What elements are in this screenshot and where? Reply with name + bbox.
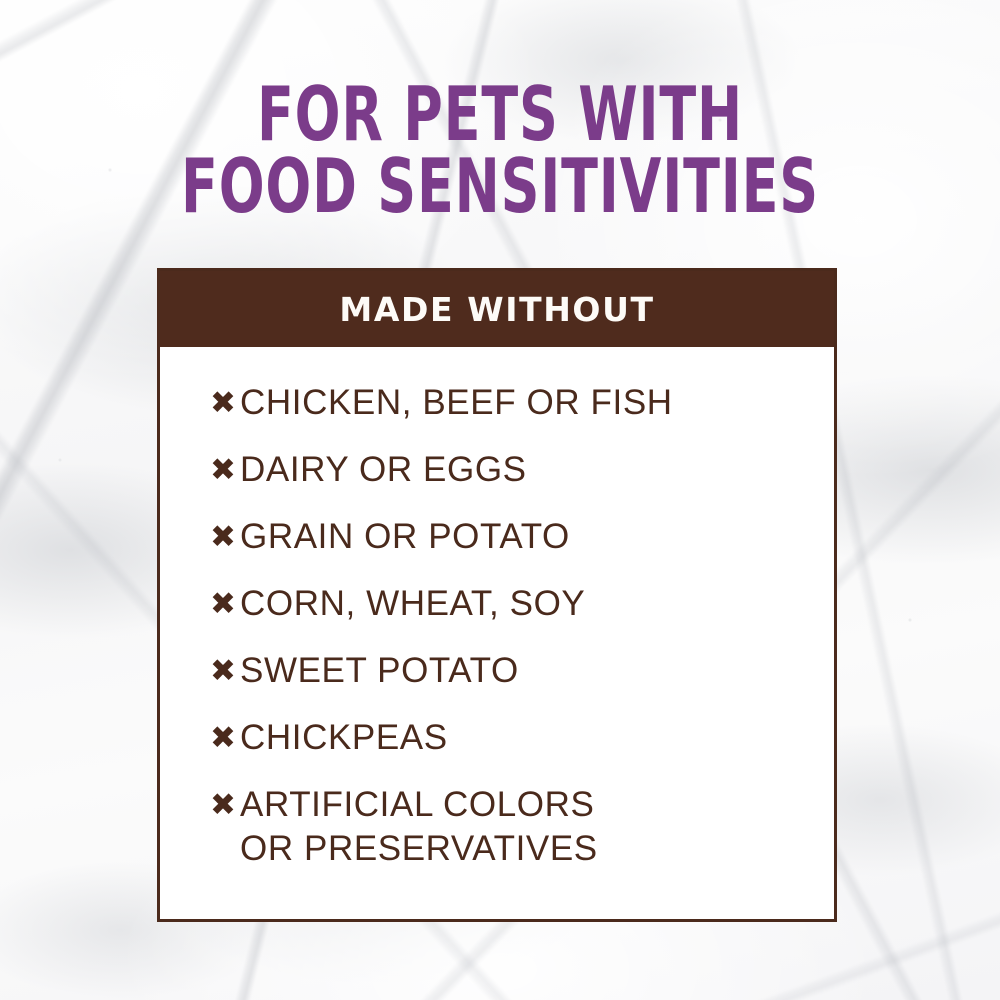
exclusion-list: ✖ CHICKEN, BEEF OR FISH ✖ DAIRY OR EGGS … (160, 381, 834, 871)
list-item: ✖ CHICKPEAS (210, 716, 812, 760)
page-title-line-1: FOR PETS WITH (100, 78, 900, 150)
card-body: ✖ CHICKEN, BEEF OR FISH ✖ DAIRY OR EGGS … (160, 347, 834, 919)
page-title-line-2: FOOD SENSITIVITIES (100, 150, 900, 222)
list-item-label: DAIRY OR EGGS (240, 448, 527, 492)
list-item: ✖ GRAIN OR POTATO (210, 515, 812, 559)
x-mark-icon: ✖ (210, 783, 240, 827)
list-item-label: SWEET POTATO (240, 649, 519, 693)
x-mark-icon: ✖ (210, 448, 240, 492)
x-mark-icon: ✖ (210, 649, 240, 693)
list-item-label: CHICKEN, BEEF OR FISH (240, 381, 673, 425)
list-item: ✖ CHICKEN, BEEF OR FISH (210, 381, 812, 425)
card-header-band: MADE WITHOUT (160, 271, 834, 347)
x-mark-icon: ✖ (210, 515, 240, 559)
x-mark-icon: ✖ (210, 716, 240, 760)
list-item: ✖ ARTIFICIAL COLORS OR PRESERVATIVES (210, 783, 812, 871)
list-item-label: ARTIFICIAL COLORS OR PRESERVATIVES (240, 783, 598, 871)
list-item-label: CHICKPEAS (240, 716, 448, 760)
list-item: ✖ CORN, WHEAT, SOY (210, 582, 812, 626)
x-mark-icon: ✖ (210, 582, 240, 626)
made-without-card: MADE WITHOUT ✖ CHICKEN, BEEF OR FISH ✖ D… (157, 268, 837, 922)
x-mark-icon: ✖ (210, 381, 240, 425)
page-title: FOR PETS WITH FOOD SENSITIVITIES (0, 78, 1000, 222)
card-header-title: MADE WITHOUT (339, 290, 654, 329)
list-item: ✖ DAIRY OR EGGS (210, 448, 812, 492)
list-item-label: CORN, WHEAT, SOY (240, 582, 585, 626)
list-item-label: GRAIN OR POTATO (240, 515, 570, 559)
list-item: ✖ SWEET POTATO (210, 649, 812, 693)
